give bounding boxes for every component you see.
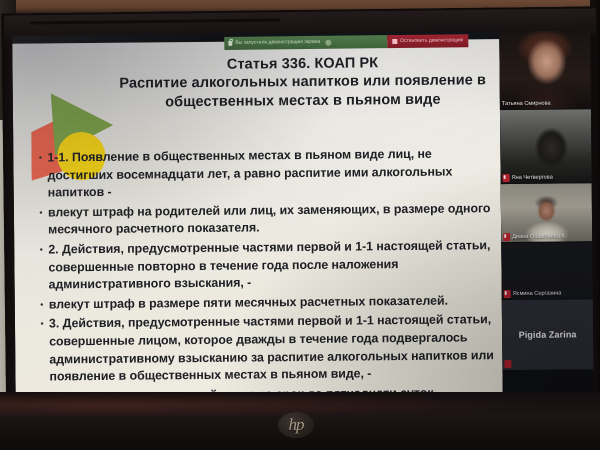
- bullet-text: влекут штраф в размере пяти месячных рас…: [49, 292, 495, 314]
- participant-name-row: Яна Четвергова: [501, 174, 555, 183]
- mic-muted-icon: [503, 233, 510, 241]
- list-item: • влекут штраф в размере пяти месячных р…: [35, 292, 495, 314]
- mic-muted-icon: [504, 290, 511, 298]
- participant-video-feed: [499, 30, 591, 109]
- participant-tile[interactable]: Татьяна Смирнова: [499, 30, 591, 110]
- participant-name-row: Татьяна Смирнова: [500, 100, 553, 109]
- mic-muted-icon: [503, 174, 510, 182]
- list-item: • влекут штраф на родителей или лиц, их …: [34, 200, 494, 240]
- bullet-text: 1-1. Появление в общественных местах в п…: [47, 145, 493, 202]
- participant-name: Pigida Zarina: [519, 329, 577, 340]
- participant-name: Татьяна Смирнова: [502, 100, 551, 108]
- share-status-strip: Вы запустили демонстрацию экрана: [224, 35, 387, 50]
- bullet-text: 3. Действия, предусмотренные частями пер…: [49, 312, 496, 387]
- hp-logo: hp: [278, 412, 314, 438]
- slide-subtitle-line-2: общественных местах в пьяном виде: [109, 90, 497, 113]
- laptop-screen: Статья 336. КОАП РК Распитие алкогольных…: [12, 30, 594, 408]
- lock-icon: [228, 41, 232, 46]
- participant-name-row: Диана Ошакбаева 8..: [501, 232, 569, 241]
- bullet-text: влекут штраф на родителей или лиц, их за…: [48, 200, 494, 239]
- list-item: • 1-1. Появление в общественных местах в…: [33, 145, 493, 202]
- bullet-text: 2. Действия, предусмотренные частями пер…: [48, 237, 494, 294]
- slide-title-block: Статья 336. КОАП РК Распитие алкогольных…: [108, 54, 497, 112]
- participant-tile[interactable]: Диана Ошакбаева 8..: [501, 183, 593, 243]
- photograph-of-laptop-screen: Статья 336. КОАП РК Распитие алкогольных…: [0, 0, 600, 450]
- participant-video-feed: [500, 109, 592, 183]
- list-item: • 3. Действия, предусмотренные частями п…: [35, 312, 496, 387]
- mic-muted-icon: [504, 360, 511, 368]
- list-item: • 2. Действия, предусмотренные частями п…: [34, 237, 494, 294]
- screen-share-control-bar: Вы запустили демонстрацию экрана Останов…: [224, 34, 468, 50]
- bullet-marker-icon: •: [35, 316, 49, 333]
- bullet-marker-icon: •: [33, 149, 47, 166]
- stop-square-icon: [392, 39, 397, 44]
- stop-share-label: Остановить демонстрацию: [400, 38, 463, 44]
- participant-name: Яна Четвергова: [512, 174, 553, 182]
- participant-filmstrip[interactable]: Татьяна Смирнова Яна Четвергова Диана Ош…: [499, 30, 594, 403]
- participant-name: Диана Ошакбаева 8..: [512, 232, 567, 241]
- slide-bullet-list: • 1-1. Появление в общественных местах в…: [33, 145, 495, 400]
- participant-tile[interactable]: Ясмина Сергазина: [501, 242, 593, 300]
- stop-share-button[interactable]: Остановить демонстрацию: [387, 34, 468, 48]
- bullet-marker-icon: •: [35, 296, 49, 313]
- participant-name: Ясмина Сергазина: [513, 290, 562, 298]
- participant-tile[interactable]: Pigida Zarina: [502, 299, 594, 371]
- bullet-marker-icon: •: [34, 204, 48, 221]
- presentation-slide: Статья 336. КОАП РК Распитие алкогольных…: [12, 39, 502, 400]
- participant-name-row: Ясмина Сергазина: [502, 290, 564, 299]
- pause-icon[interactable]: [325, 39, 331, 45]
- participant-tile[interactable]: Яна Четвергова: [500, 109, 592, 184]
- share-status-label: Вы запустили демонстрацию экрана: [235, 40, 320, 46]
- bullet-marker-icon: •: [34, 241, 48, 258]
